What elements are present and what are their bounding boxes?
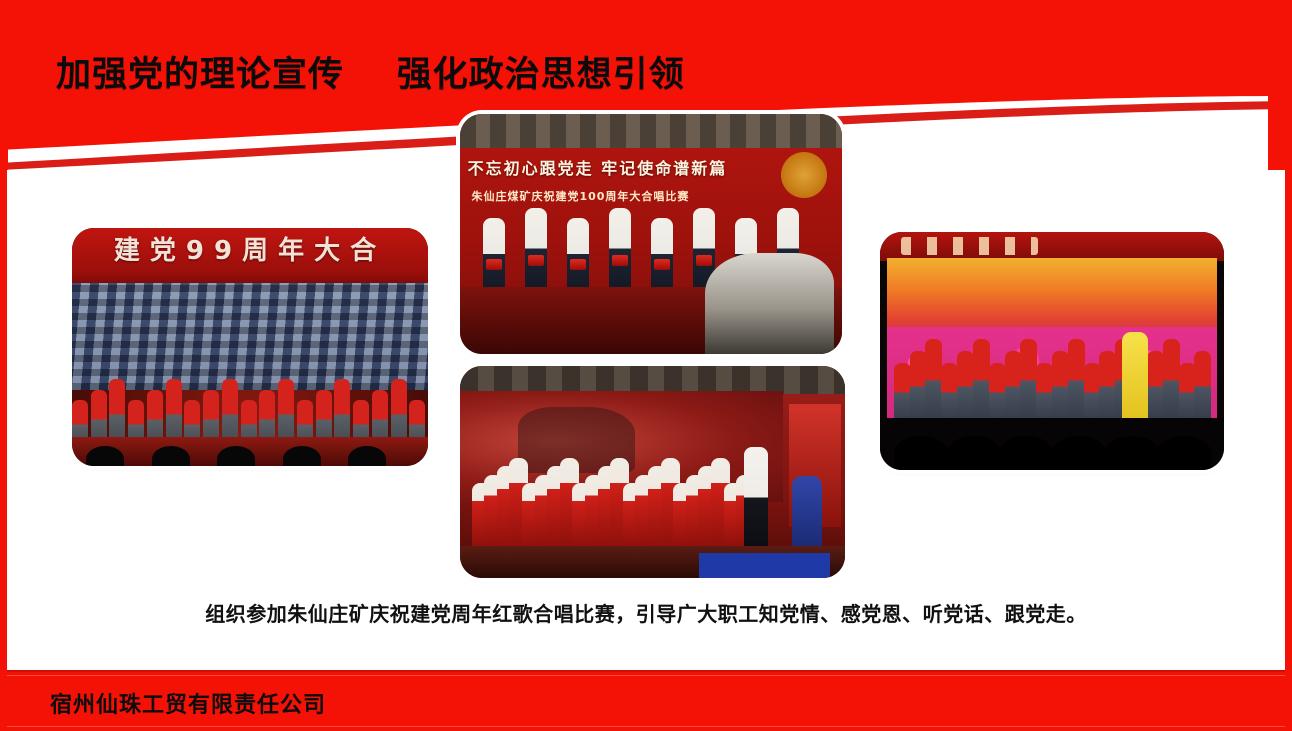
photo3-judges-table: [699, 553, 830, 578]
photo2-banner-title: 不忘初心跟党走 牢记使命谱新篇: [468, 155, 766, 179]
slide-caption: 组织参加朱仙庄矿庆祝建党周年红歌合唱比赛，引导广大职工知党情、感党恩、听党话、跟…: [0, 598, 1292, 627]
photo2-photographer-silhouette: [705, 253, 835, 354]
photo4-lead-singer: [1122, 332, 1148, 422]
presentation-slide: 加强党的理论宣传 强化政治思想引领 建党99周年大合 不忘初心跟党走 牢记使命谱…: [0, 0, 1292, 731]
photo3-conductor: [744, 447, 768, 549]
photo1-banner-text: 建党99周年大合: [72, 230, 428, 267]
page-title: 加强党的理论宣传 强化政治思想引领: [56, 52, 685, 98]
photo2-ceiling: [460, 114, 842, 148]
photo1-choir-rows: [72, 361, 428, 447]
photo-choir-99th-anniversary[interactable]: 建党99周年大合: [72, 228, 428, 466]
photo4-stage-banner: [880, 232, 1224, 261]
photo-choir-red-gowns[interactable]: [460, 366, 845, 578]
photo3-choir-rows: [472, 455, 749, 548]
photo-choir-flower-backdrop[interactable]: [880, 232, 1224, 470]
slide-border-right: [1285, 0, 1292, 731]
photo3-blue-dress-singer: [792, 476, 822, 548]
photo-award-ceremony-100th[interactable]: 不忘初心跟党走 牢记使命谱新篇 朱仙庄煤矿庆祝建党100周年大合唱比赛: [460, 114, 842, 354]
company-name: 宿州仙珠工贸有限责任公司: [50, 687, 326, 719]
photo3-ceiling: [460, 366, 845, 394]
photo4-audience-silhouettes: [880, 418, 1224, 470]
photo1-audience-silhouettes: [72, 445, 428, 466]
photo2-party-emblem: [781, 152, 827, 198]
photo4-choir-rows: [894, 327, 1210, 422]
slide-footer: 宿州仙珠工贸有限责任公司: [0, 670, 1292, 731]
slide-border-left: [0, 0, 7, 731]
